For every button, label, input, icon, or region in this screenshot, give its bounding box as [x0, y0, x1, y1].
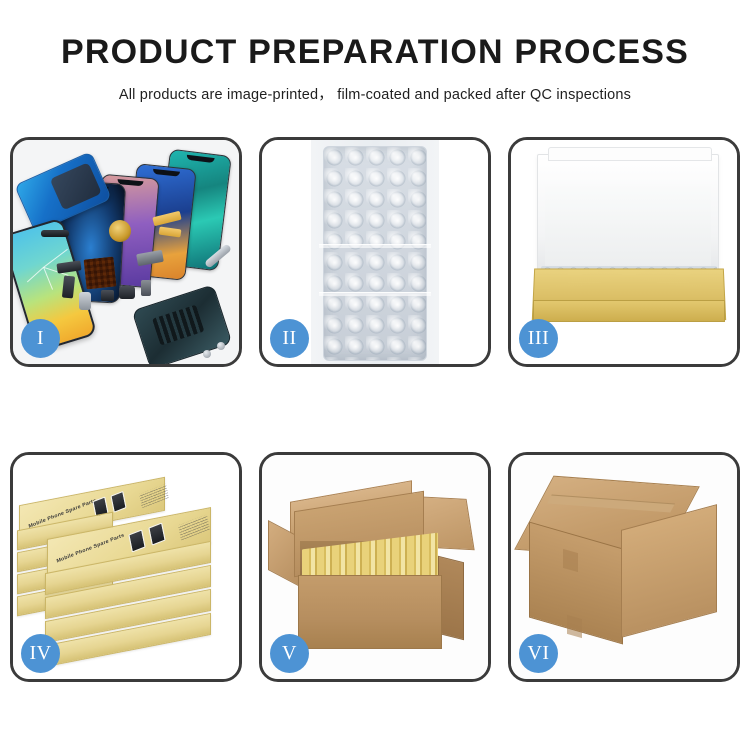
step-badge-4: IV [21, 634, 60, 673]
small-part [62, 275, 75, 298]
process-steps-grid: I II III [10, 137, 740, 682]
box-artwork-screen [128, 529, 145, 552]
carton-tape-tab [567, 615, 582, 638]
page-title: PRODUCT PREPARATION PROCESS [0, 34, 750, 71]
crack-line [27, 267, 44, 282]
header: PRODUCT PREPARATION PROCESS All products… [0, 0, 750, 104]
step-panel-2: II [259, 137, 491, 367]
box-artwork-screen [110, 491, 126, 513]
step-panel-5: V [259, 452, 491, 682]
step-badge-3: III [519, 319, 558, 358]
carton-front-wall [298, 575, 442, 649]
step-badge-5: V [270, 634, 309, 673]
carton-tape-tab [563, 549, 578, 572]
box-artwork-text-lines [139, 484, 169, 508]
speaker-part [41, 230, 69, 237]
screw-part [203, 350, 211, 358]
small-part [141, 280, 151, 296]
chip-array-part [84, 257, 117, 290]
step-panel-1: I [10, 137, 242, 367]
bubble-wrap-seam [319, 244, 431, 248]
step-badge-6: VI [519, 634, 558, 673]
box-tray-front-wall [533, 300, 725, 322]
step-badge-1: I [21, 319, 60, 358]
bubble-wrap-sleeve [323, 146, 427, 361]
bubble-wrap-seam [319, 292, 431, 296]
page-subtitle: All products are image-printed， film-coa… [0, 83, 750, 104]
copper-coil-part [109, 220, 131, 242]
small-part [79, 292, 91, 310]
step-panel-3: III [508, 137, 740, 367]
phone-notch-icon [153, 169, 180, 177]
step-panel-4: Mobile Phone Spare Parts Mobile Phone Sp… [10, 452, 242, 682]
phone-notch-icon [186, 155, 214, 163]
phone-back-housing-board [132, 284, 233, 364]
product-preparation-infographic: PRODUCT PREPARATION PROCESS All products… [0, 0, 750, 750]
screw-part [217, 342, 225, 350]
box-lid-inner-panel [545, 184, 711, 268]
box-artwork-screen [148, 522, 165, 545]
small-part [101, 290, 114, 301]
small-part [119, 286, 135, 299]
box-artwork-text-lines [178, 514, 210, 540]
step-badge-2: II [270, 319, 309, 358]
step-panel-6: VI [508, 452, 740, 682]
